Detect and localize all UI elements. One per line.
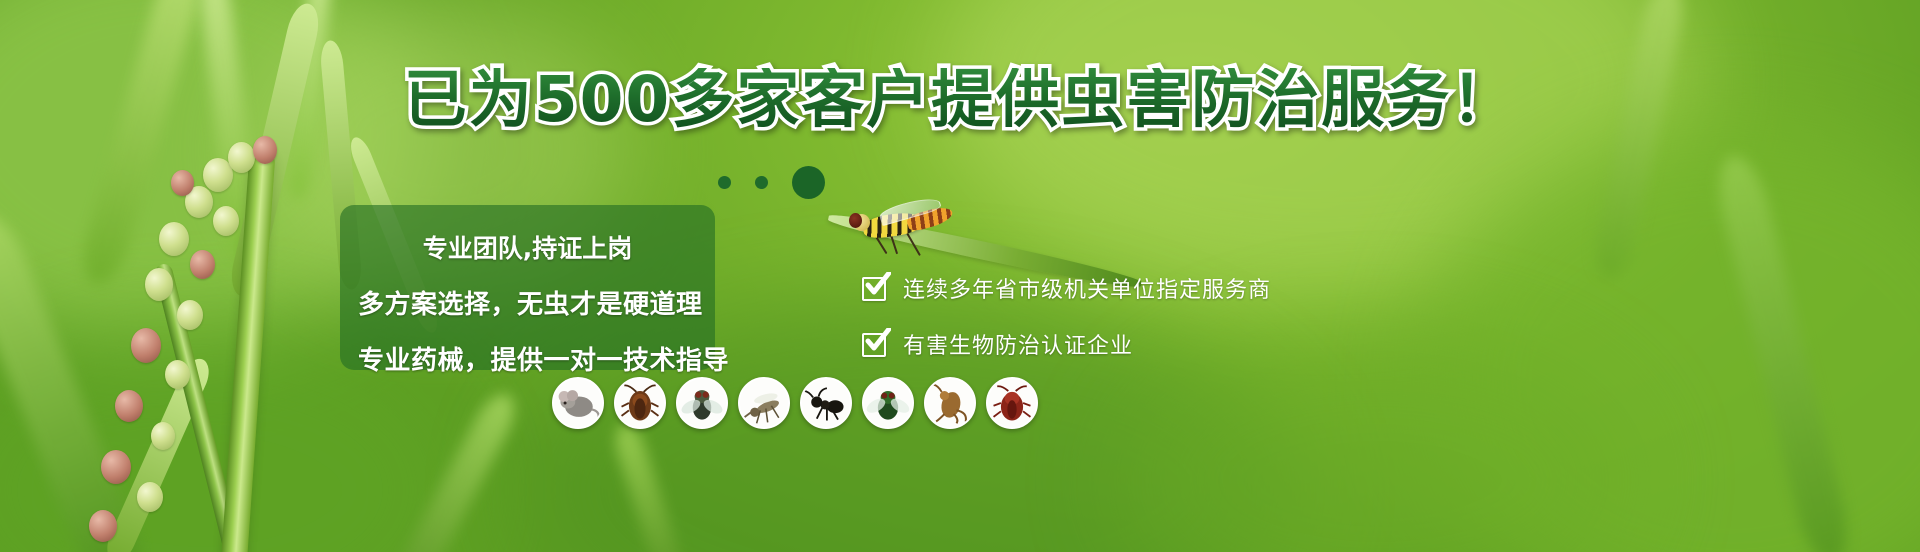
pest-control-hero-banner: 已为500多家客户提供虫害防治服务！ 已为500多家客户提供虫害防治服务！ 专业… <box>0 0 1920 552</box>
decor-dot-small-icon <box>718 176 731 189</box>
page-title: 已为500多家客户提供虫害防治服务！ <box>0 68 1920 131</box>
blowfly-icon[interactable] <box>862 377 914 429</box>
mosquito-icon[interactable] <box>738 377 790 429</box>
fly-eye <box>849 213 862 228</box>
flower-bud <box>213 206 239 236</box>
credential-label: 连续多年省市级机关单位指定服务商 <box>903 272 1271 304</box>
pest-type-icon-strip <box>552 377 1038 429</box>
selling-point-line-2: 多方案选择，无虫才是硬道理 <box>358 284 697 321</box>
selling-point-line-1: 专业团队,持证上岗 <box>358 229 697 265</box>
bedbug-icon[interactable] <box>986 377 1038 429</box>
decor-dot-large-icon <box>792 166 825 199</box>
mouse-icon[interactable] <box>552 377 604 429</box>
flower-bud <box>145 268 173 301</box>
cockroach-icon[interactable] <box>614 377 666 429</box>
flower-bud <box>131 328 161 363</box>
credentials-list: 连续多年省市级机关单位指定服务商 有害生物防治认证企业 <box>862 272 1271 360</box>
flower-bud <box>115 390 143 422</box>
housefly-icon[interactable] <box>676 377 728 429</box>
flower-bud <box>165 360 190 389</box>
flower-bud <box>171 170 194 196</box>
flower-bud <box>228 142 255 173</box>
selling-point-line-3: 专业药械，提供一对一技术指导 <box>358 340 697 377</box>
flea-icon[interactable] <box>924 377 976 429</box>
selling-points-box: 专业团队,持证上岗 多方案选择，无虫才是硬道理 专业药械，提供一对一技术指导 <box>340 205 715 370</box>
credential-label: 有害生物防治认证企业 <box>903 328 1133 360</box>
flower-bud <box>89 510 117 542</box>
credential-item: 连续多年省市级机关单位指定服务商 <box>862 272 1271 304</box>
decorative-dots <box>718 166 825 199</box>
flower-bud <box>101 450 131 484</box>
flower-bud <box>151 422 175 450</box>
flower-bud <box>159 222 189 256</box>
ant-icon[interactable] <box>800 377 852 429</box>
decor-dot-small-icon <box>755 176 768 189</box>
flower-bud <box>190 250 215 279</box>
flower-bud <box>137 482 163 512</box>
checkbox-check-icon <box>862 330 890 358</box>
credential-item: 有害生物防治认证企业 <box>862 328 1271 360</box>
fly-on-leaf-photo <box>845 200 975 270</box>
flower-bud <box>253 136 277 164</box>
checkbox-check-icon <box>862 274 890 302</box>
flower-bud <box>177 300 203 330</box>
